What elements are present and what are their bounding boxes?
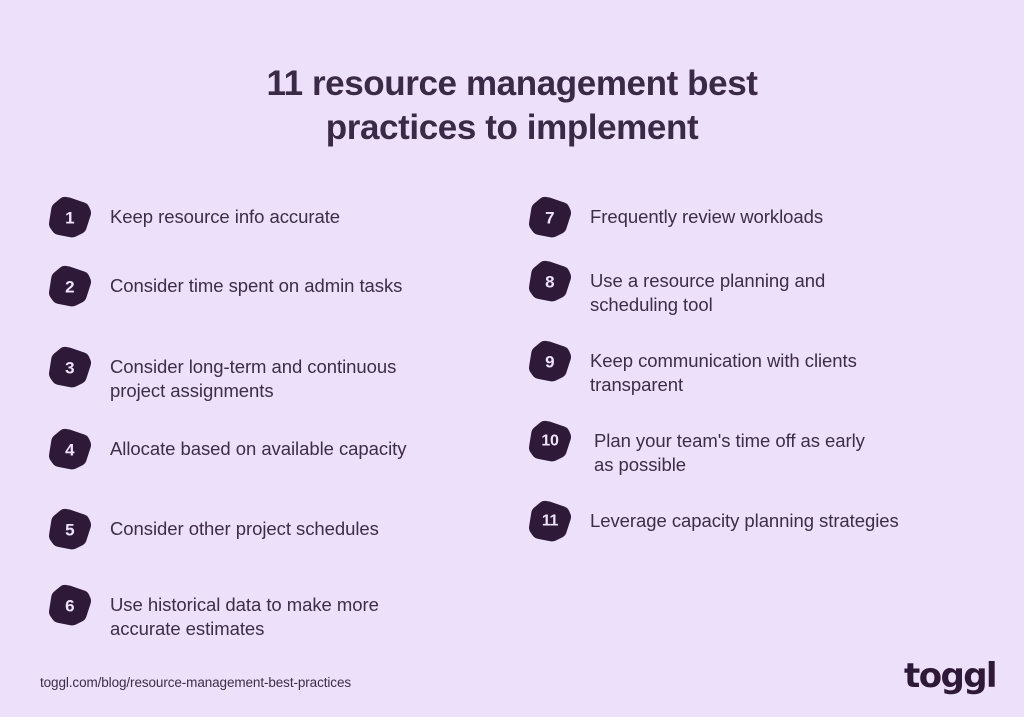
list-item: 3 Consider long-term and continuous proj… (48, 346, 396, 404)
list-item-label: Keep communication with clients transpar… (590, 340, 857, 398)
list-item-label: Frequently review workloads (590, 196, 823, 229)
list-item-label: Keep resource info accurate (110, 196, 340, 229)
number-badge-11: 11 (528, 500, 572, 544)
badge-number: 5 (65, 521, 75, 538)
list-item: 9 Keep communication with clients transp… (528, 340, 857, 398)
source-url: toggl.com/blog/resource-management-best-… (40, 675, 351, 690)
badge-number: 8 (545, 273, 555, 290)
badge-number: 11 (542, 514, 558, 530)
badge-number: 3 (65, 359, 75, 376)
number-badge-5: 5 (48, 508, 92, 552)
number-badge-6: 6 (48, 584, 92, 628)
list-item-label: Use historical data to make more accurat… (110, 584, 379, 642)
list-item-label: Plan your team's time off as early as po… (594, 420, 865, 478)
number-badge-8: 8 (528, 260, 572, 304)
number-badge-2: 2 (48, 265, 92, 309)
list-item-label: Use a resource planning and scheduling t… (590, 260, 825, 318)
list-item: 6 Use historical data to make more accur… (48, 584, 379, 642)
list-item: 2 Consider time spent on admin tasks (48, 265, 402, 309)
badge-number: 10 (541, 434, 558, 450)
number-badge-7: 7 (528, 196, 572, 240)
list-item: 5 Consider other project schedules (48, 508, 379, 552)
list-item: 1 Keep resource info accurate (48, 196, 340, 240)
badge-number: 1 (65, 209, 75, 226)
number-badge-4: 4 (48, 428, 92, 472)
badge-number: 6 (65, 597, 75, 614)
toggl-logo: toggl (904, 659, 996, 693)
list-item: 7 Frequently review workloads (528, 196, 823, 240)
list-item-label: Consider other project schedules (110, 508, 379, 541)
page-title: 11 resource management best practices to… (0, 62, 1024, 150)
list-item: 11 Leverage capacity planning strategies (528, 500, 899, 544)
badge-number: 7 (545, 209, 555, 226)
list-item-label: Leverage capacity planning strategies (590, 500, 899, 533)
badge-number: 2 (65, 278, 75, 295)
number-badge-1: 1 (48, 196, 92, 240)
list-item: 4 Allocate based on available capacity (48, 428, 406, 472)
number-badge-3: 3 (48, 346, 92, 390)
list-item-label: Consider time spent on admin tasks (110, 265, 402, 298)
list-item: 8 Use a resource planning and scheduling… (528, 260, 825, 318)
list-item-label: Allocate based on available capacity (110, 428, 406, 461)
number-badge-9: 9 (528, 340, 572, 384)
number-badge-10: 10 (528, 420, 572, 464)
list-item: 10 Plan your team's time off as early as… (528, 420, 865, 478)
badge-number: 9 (545, 353, 555, 370)
list-item-label: Consider long-term and continuous projec… (110, 346, 396, 404)
badge-number: 4 (65, 441, 75, 458)
